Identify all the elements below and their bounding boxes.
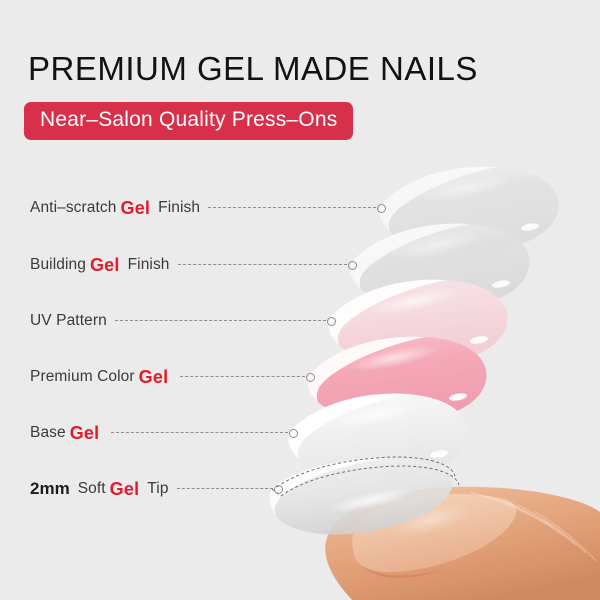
callout-building-gel-finish-part-2: Finish — [124, 256, 170, 274]
callout-premium-color-gel-part-0: Premium Color — [30, 368, 135, 386]
callout-building-gel-finish-part-1: Gel — [86, 255, 124, 276]
leader-line-anti-scratch-gel-finish — [208, 207, 376, 209]
leader-line-premium-color-gel — [180, 376, 305, 378]
leader-line-base-gel — [111, 432, 288, 434]
leader-endpoint-building-gel-finish — [348, 261, 357, 270]
callout-2mm-soft-gel-tip-part-3: Tip — [143, 480, 168, 498]
leader-endpoint-2mm-soft-gel-tip — [274, 485, 283, 494]
leader-endpoint-base-gel — [289, 429, 298, 438]
callout-premium-color-gel: Premium ColorGel — [30, 366, 315, 388]
callout-2mm-soft-gel-tip-part-1: Soft — [74, 480, 106, 498]
callout-uv-pattern: UV Pattern — [30, 310, 336, 332]
callout-building-gel-finish-part-0: Building — [30, 256, 86, 274]
leader-line-building-gel-finish — [178, 264, 347, 266]
callout-2mm-soft-gel-tip: 2mmSoftGelTip — [30, 478, 283, 500]
leader-endpoint-premium-color-gel — [306, 373, 315, 382]
callout-anti-scratch-gel-finish: Anti–scratchGelFinish — [30, 197, 386, 219]
leader-line-2mm-soft-gel-tip — [177, 488, 273, 490]
callout-anti-scratch-gel-finish-part-1: Gel — [117, 198, 155, 219]
leader-endpoint-uv-pattern — [327, 317, 336, 326]
callout-base-gel: BaseGel — [30, 422, 298, 444]
callout-anti-scratch-gel-finish-part-0: Anti–scratch — [30, 199, 117, 217]
callout-anti-scratch-gel-finish-part-2: Finish — [154, 199, 200, 217]
callout-list: Anti–scratchGelFinishBuildingGelFinishUV… — [0, 0, 600, 600]
callout-uv-pattern-part-0: UV Pattern — [30, 312, 107, 330]
callout-premium-color-gel-part-1: Gel — [135, 367, 173, 388]
leader-endpoint-anti-scratch-gel-finish — [377, 204, 386, 213]
callout-2mm-soft-gel-tip-part-0: 2mm — [30, 479, 74, 499]
callout-base-gel-part-1: Gel — [66, 423, 104, 444]
callout-2mm-soft-gel-tip-part-2: Gel — [106, 479, 144, 500]
callout-base-gel-part-0: Base — [30, 424, 66, 442]
callout-building-gel-finish: BuildingGelFinish — [30, 254, 357, 276]
leader-line-uv-pattern — [115, 320, 326, 322]
